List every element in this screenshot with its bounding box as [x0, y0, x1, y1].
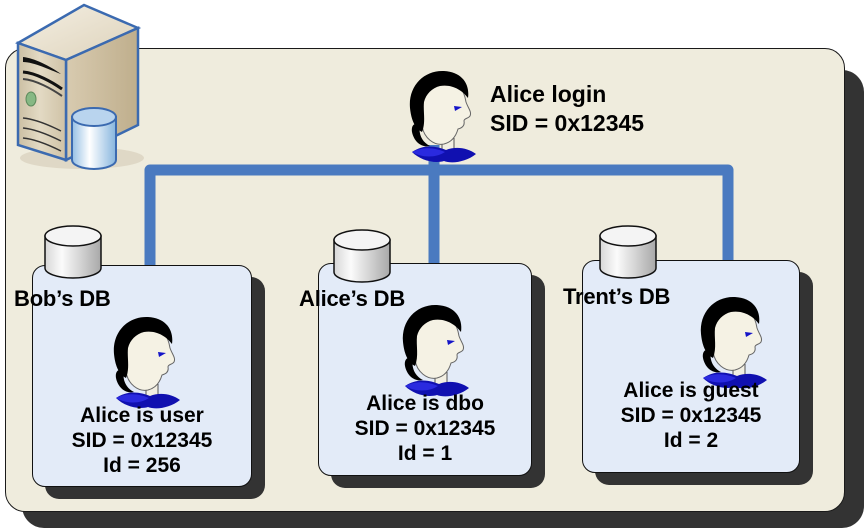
alices-db-person-icon — [389, 300, 473, 398]
bobs-db-person-icon — [100, 312, 184, 410]
database-cylinder-icon — [72, 108, 116, 169]
trents-db-label: Trent’s DB — [563, 284, 670, 310]
alices-db-id: Id = 1 — [318, 441, 532, 466]
alices-db-role: Alice is dbo — [318, 391, 532, 416]
login-person-icon — [396, 66, 480, 164]
trents-db-cylinder-icon — [596, 224, 660, 282]
diagram-canvas: Alice login SID = 0x12345 Bob’s DB Alice… — [0, 0, 864, 529]
login-sid: SID = 0x12345 — [490, 109, 644, 138]
bobs-db-text: Alice is user SID = 0x12345 Id = 256 — [32, 403, 252, 478]
trents-db-text: Alice is guest SID = 0x12345 Id = 2 — [582, 378, 800, 453]
login-caption: Alice login SID = 0x12345 — [490, 80, 644, 138]
trents-db-person-icon — [687, 292, 771, 390]
trents-db-id: Id = 2 — [582, 428, 800, 453]
server-tower-icon — [4, 0, 149, 172]
alices-db-cylinder-icon — [330, 228, 394, 286]
bobs-db-label: Bob’s DB — [14, 286, 111, 312]
alices-db-sid: SID = 0x12345 — [318, 416, 532, 441]
bobs-db-cylinder-icon — [41, 224, 105, 282]
trents-db-sid: SID = 0x12345 — [582, 403, 800, 428]
trents-db-role: Alice is guest — [582, 378, 800, 403]
login-title: Alice login — [490, 80, 644, 109]
bobs-db-role: Alice is user — [32, 403, 252, 428]
bobs-db-id: Id = 256 — [32, 453, 252, 478]
bobs-db-sid: SID = 0x12345 — [32, 428, 252, 453]
alices-db-text: Alice is dbo SID = 0x12345 Id = 1 — [318, 391, 532, 466]
